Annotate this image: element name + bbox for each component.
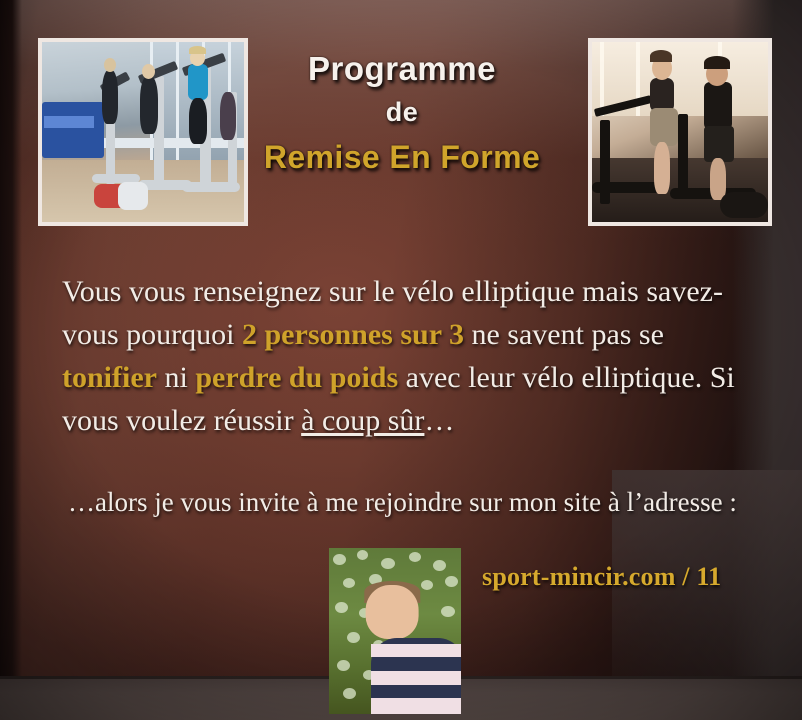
paragraph-segment: … xyxy=(424,404,454,437)
title-block: Programme de Remise En Forme xyxy=(252,52,552,173)
portrait-head xyxy=(366,585,419,640)
paragraph-segment: ne savent pas se xyxy=(464,318,664,351)
title-line-programme: Programme xyxy=(252,52,552,85)
title-line-de: de xyxy=(252,99,552,126)
underlined-a-coup-sur: à coup sûr xyxy=(301,404,424,437)
highlight-tonifier: tonifier xyxy=(62,361,157,394)
highlight-2-personnes-sur-3: 2 personnes sur 3 xyxy=(242,318,464,351)
gym-ellipticals-group-photo xyxy=(38,38,248,226)
highlight-perdre-du-poids: perdre du poids xyxy=(195,361,398,394)
site-url-text: sport-mincir.com / 11 xyxy=(482,562,721,592)
invite-paragraph: …alors je vous invite à me rejoindre sur… xyxy=(68,482,768,522)
portrait-torso xyxy=(371,638,461,714)
title-line-remise-en-forme: Remise En Forme xyxy=(252,141,552,173)
couple-on-ellipticals-photo xyxy=(588,38,772,226)
slide-canvas: Programme de Remise En Forme Vous vous r… xyxy=(0,0,802,720)
main-paragraph: Vous vous renseignez sur le vélo ellipti… xyxy=(62,270,762,442)
paragraph-segment: ni xyxy=(157,361,195,394)
man-striped-polo-portrait-photo xyxy=(329,548,461,714)
